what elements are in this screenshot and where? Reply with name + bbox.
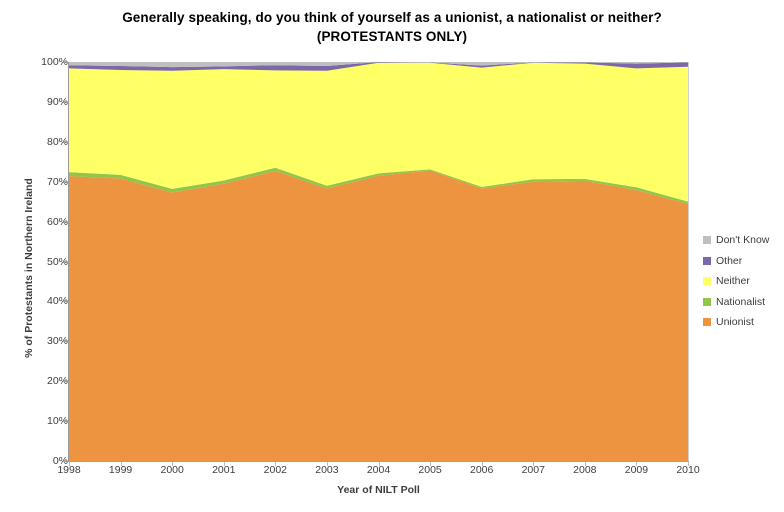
x-axis-tick xyxy=(636,462,637,466)
y-axis-tick xyxy=(63,182,68,183)
y-axis-tick xyxy=(63,381,68,382)
x-axis-tick xyxy=(482,462,483,466)
y-axis-title: % of Protestants in Northern Ireland xyxy=(23,168,35,368)
legend-label: Unionist xyxy=(716,316,754,328)
legend-swatch-icon xyxy=(703,277,711,285)
legend-item-other[interactable]: Other xyxy=(703,255,769,267)
chart-container: Generally speaking, do you think of your… xyxy=(0,0,784,512)
area-series-unionist xyxy=(69,171,688,461)
legend-item-neither[interactable]: Neither xyxy=(703,275,769,287)
stacked-area-svg xyxy=(69,62,688,461)
legend-label: Other xyxy=(716,255,742,267)
x-axis-tick xyxy=(224,462,225,466)
legend-swatch-icon xyxy=(703,257,711,265)
x-axis-tick xyxy=(688,462,689,466)
x-axis-tick xyxy=(275,462,276,466)
x-axis-tick xyxy=(533,462,534,466)
y-axis-tick xyxy=(63,461,68,462)
y-axis-tick xyxy=(63,142,68,143)
legend-label: Nationalist xyxy=(716,296,765,308)
x-axis-tick xyxy=(172,462,173,466)
y-axis-tick xyxy=(63,262,68,263)
x-axis-tick xyxy=(121,462,122,466)
plot-area xyxy=(69,62,689,461)
y-axis-tick xyxy=(63,421,68,422)
x-axis-tick xyxy=(69,462,70,466)
legend-label: Neither xyxy=(716,275,750,287)
y-axis-tick xyxy=(63,301,68,302)
chart-legend: Don't KnowOtherNeitherNationalistUnionis… xyxy=(703,234,769,328)
legend-swatch-icon xyxy=(703,298,711,306)
chart-title-line-1: Generally speaking, do you think of your… xyxy=(0,8,784,27)
y-axis-tick xyxy=(63,62,68,63)
legend-label: Don't Know xyxy=(716,234,769,246)
legend-item-nationalist[interactable]: Nationalist xyxy=(703,296,769,308)
chart-title: Generally speaking, do you think of your… xyxy=(0,8,784,46)
x-axis-title: Year of NILT Poll xyxy=(69,484,688,496)
x-axis-tick xyxy=(379,462,380,466)
x-axis-tick xyxy=(430,462,431,466)
legend-item-don-t-know[interactable]: Don't Know xyxy=(703,234,769,246)
legend-swatch-icon xyxy=(703,318,711,326)
x-axis-tick xyxy=(585,462,586,466)
legend-swatch-icon xyxy=(703,236,711,244)
y-axis-tick xyxy=(63,222,68,223)
legend-item-unionist[interactable]: Unionist xyxy=(703,316,769,328)
chart-title-line-2: (PROTESTANTS ONLY) xyxy=(0,27,784,46)
x-axis-tick xyxy=(327,462,328,466)
y-axis-tick xyxy=(63,102,68,103)
y-axis-tick xyxy=(63,341,68,342)
